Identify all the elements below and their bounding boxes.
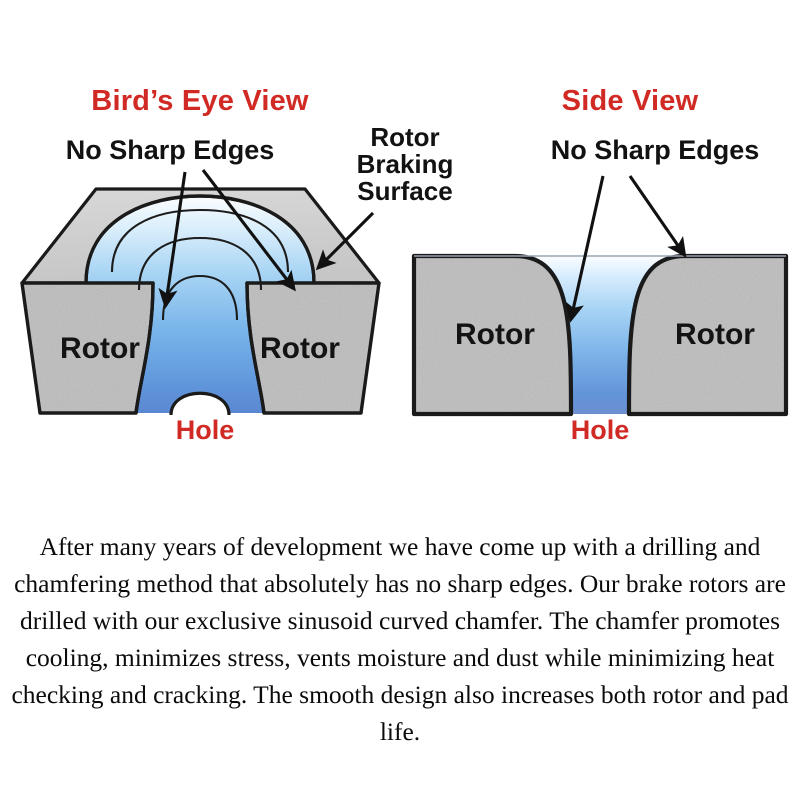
description-paragraph: After many years of development we have … bbox=[8, 528, 792, 750]
birds-eye-block bbox=[22, 170, 379, 415]
hole-label-right: Hole bbox=[525, 416, 675, 444]
rotor-text-right-sideview: Rotor bbox=[650, 318, 780, 352]
no-sharp-edges-label-left: No Sharp Edges bbox=[20, 136, 320, 164]
rotor-text-left-birdseye: Rotor bbox=[35, 332, 165, 366]
rotor-text-right-birdseye: Rotor bbox=[235, 332, 365, 366]
birds-eye-view-title: Bird’s Eye View bbox=[60, 86, 340, 116]
diagram-page: Bird’s Eye View Side View No Sharp Edges… bbox=[0, 0, 800, 800]
side-view-title: Side View bbox=[480, 86, 780, 116]
rotor-braking-surface-label: Rotor Braking Surface bbox=[330, 124, 480, 204]
side-no-sharp-edges-arrow-right bbox=[630, 176, 679, 247]
hole-label-left: Hole bbox=[130, 416, 280, 444]
side-view-section bbox=[412, 176, 788, 414]
rotor-text-left-sideview: Rotor bbox=[430, 318, 560, 352]
no-sharp-edges-label-right: No Sharp Edges bbox=[505, 136, 800, 164]
